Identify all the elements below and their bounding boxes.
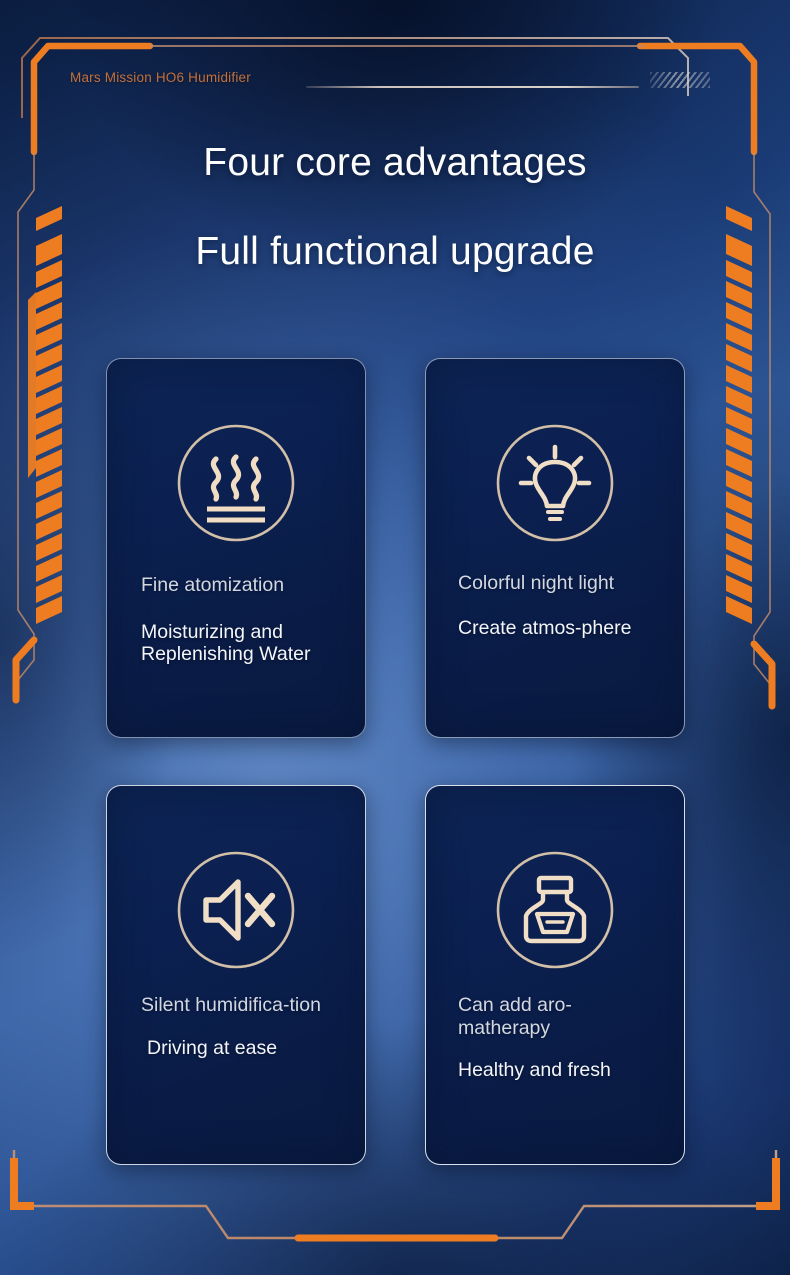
feature-card-aromatherapy[interactable]: Can add aro-matherapy Healthy and fresh (425, 785, 685, 1165)
card-subtitle: Healthy and fresh (458, 1059, 652, 1082)
feature-card-fine-atomization[interactable]: Fine atomization Moisturizing and Replen… (106, 358, 366, 738)
frame-bottom-left-accent (14, 1158, 34, 1206)
card-text-block: Silent humidifica-tion Driving at ease (107, 994, 365, 1059)
card-subtitle: Moisturizing and Replenishing Water (141, 621, 333, 666)
card-title: Colorful night light (458, 572, 652, 595)
card-title: Silent humidifica-tion (141, 994, 333, 1017)
infographic-page: Mars Mission HO6 Humidifier Four core ad… (0, 0, 790, 1275)
steam-icon (174, 421, 298, 545)
lightbulb-icon (493, 421, 617, 545)
aroma-bottle-icon (493, 848, 617, 972)
card-title: Fine atomization (141, 574, 333, 597)
card-text-block: Colorful night light Create atmos-phere (426, 572, 684, 639)
card-title: Can add aro-matherapy (458, 994, 652, 1039)
card-subtitle: Driving at ease (141, 1037, 333, 1060)
header-hatch-decoration (650, 72, 710, 88)
headline-primary: Four core advantages (0, 143, 790, 182)
card-text-block: Can add aro-matherapy Healthy and fresh (426, 994, 684, 1082)
frame-bottom-right-accent (756, 1158, 776, 1206)
frame-top-left-accent (34, 46, 150, 152)
frame-left-slug (28, 292, 36, 478)
feature-card-silent-humidification[interactable]: Silent humidifica-tion Driving at ease (106, 785, 366, 1165)
headline-block: Four core advantages Full functional upg… (0, 143, 790, 271)
feature-card-night-light[interactable]: Colorful night light Create atmos-phere (425, 358, 685, 738)
card-subtitle: Create atmos-phere (458, 617, 652, 640)
frame-right-bottom-accent (754, 644, 772, 706)
mute-speaker-icon (174, 848, 298, 972)
headline-secondary: Full functional upgrade (0, 232, 790, 271)
card-text-block: Fine atomization Moisturizing and Replen… (107, 574, 365, 666)
product-name-label: Mars Mission HO6 Humidifier (70, 70, 251, 85)
frame-left-bottom-accent (16, 640, 34, 700)
frame-top-right-accent (640, 46, 754, 152)
header-divider-line (306, 86, 639, 88)
